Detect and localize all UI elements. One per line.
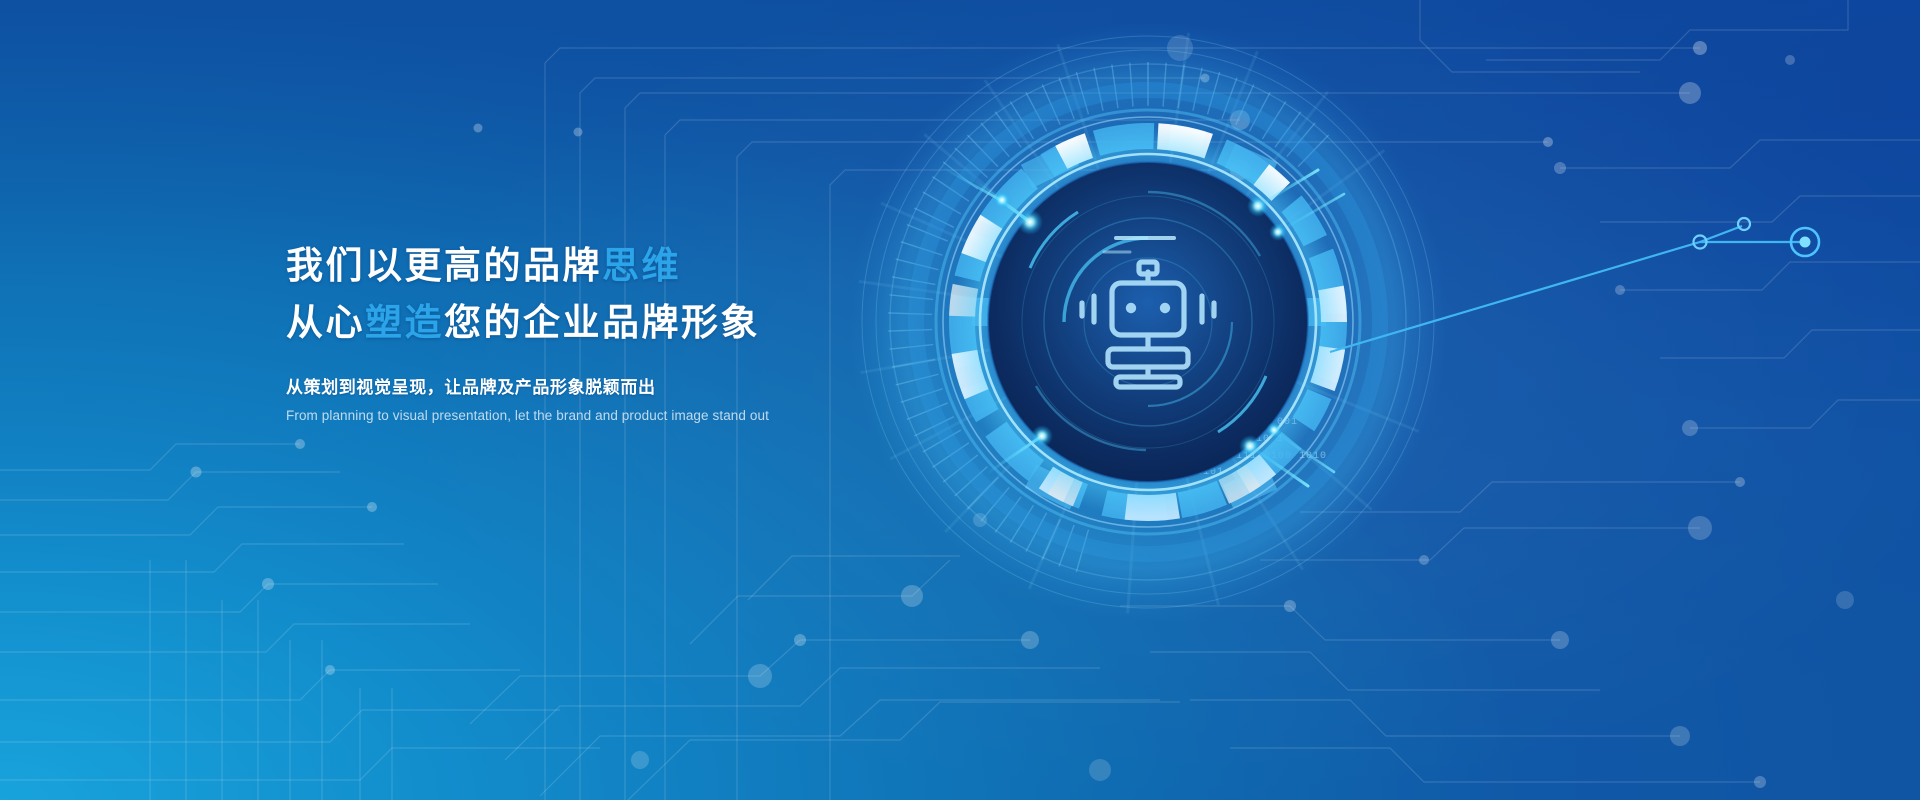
headline-line-2-text: 从心 xyxy=(286,302,365,343)
subtitle-chinese: 从策划到视觉呈现，让品牌及产品形象脱颖而出 xyxy=(286,376,1046,400)
hero-copy: 我们以更高的品牌思维 从心塑造您的企业品牌形象 从策划到视觉呈现，让品牌及产品形… xyxy=(286,243,1046,425)
headline-line-1-highlight: 思维 xyxy=(602,245,681,286)
headline-line-1: 我们以更高的品牌思维 xyxy=(286,243,1046,289)
hero-banner: 1001 1001 1010 001 11 1011 0010 1 10 011… xyxy=(0,0,1920,800)
subtitle-english: From planning to visual presentation, le… xyxy=(286,406,1046,425)
headline-line-2-highlight: 塑造 xyxy=(365,302,444,343)
headline-line-2-suffix: 您的企业品牌形象 xyxy=(444,302,760,343)
headline-line-2: 从心塑造您的企业品牌形象 xyxy=(286,300,1046,346)
headline-line-1-text: 我们以更高的品牌 xyxy=(286,245,602,286)
